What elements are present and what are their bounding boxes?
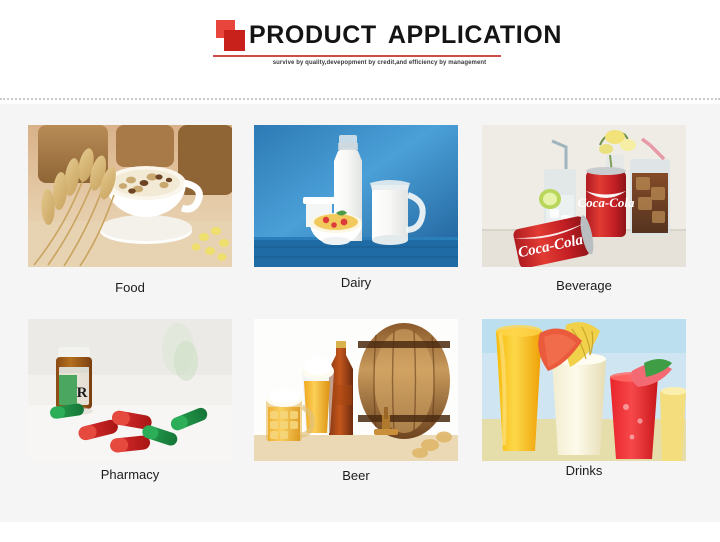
card-label-beer: Beer	[254, 468, 458, 484]
content-panel: Food	[0, 104, 720, 522]
header-divider	[0, 98, 720, 100]
page-title-secondary: APPLICATION	[388, 18, 562, 52]
card-label-beverage: Beverage	[482, 278, 686, 294]
card-label-drinks: Drinks	[482, 463, 686, 479]
product-application-grid: Food	[0, 104, 720, 522]
card-label-food: Food	[28, 280, 232, 296]
brand-lockup: PRODUCTAPPLICATION survive by quality,de…	[211, 18, 511, 70]
brand-tagline: survive by quality,devepopment by credit…	[258, 59, 501, 68]
beer-barrel-photo	[254, 319, 458, 461]
pharmacy-pills-photo: R	[28, 319, 232, 461]
logo-squares-icon	[211, 20, 251, 54]
svg-text:R: R	[77, 385, 88, 401]
beverage-cola-photo: Coca-Cola Coca-Cola	[482, 125, 686, 267]
slide-footer	[0, 522, 720, 542]
drinks-juice-photo	[482, 319, 686, 461]
svg-text:Coca-Cola: Coca-Cola	[577, 195, 635, 210]
slide-header: PRODUCTAPPLICATION survive by quality,de…	[0, 0, 720, 96]
slide-canvas: PRODUCTAPPLICATION survive by quality,de…	[0, 0, 720, 542]
logo-square-dark-icon	[224, 30, 245, 51]
dairy-milk-photo	[254, 125, 458, 267]
title-underline-rule	[213, 55, 501, 57]
page-title: PRODUCTAPPLICATION	[249, 18, 562, 54]
card-label-dairy: Dairy	[254, 275, 458, 291]
page-title-primary: PRODUCT	[249, 18, 377, 52]
card-label-pharmacy: Pharmacy	[28, 467, 232, 483]
food-cereal-wheat-photo	[28, 125, 232, 267]
